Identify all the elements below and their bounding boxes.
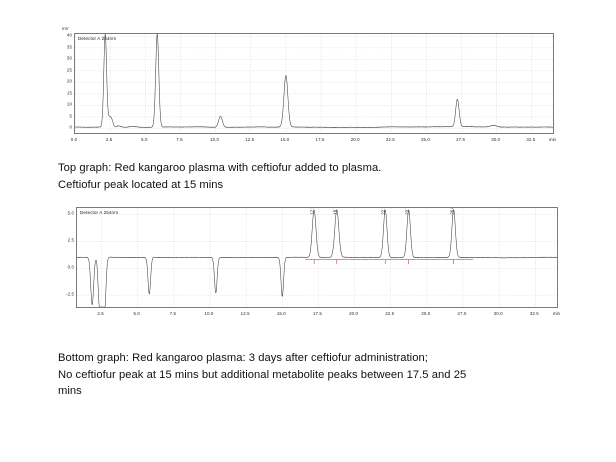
x-tick-label: 17.5 (313, 311, 322, 316)
x-tick-label: 25.0 (421, 137, 430, 142)
x-tick-label: 20.0 (349, 311, 358, 316)
peak-annotation-label: 26.850/1518/0610 (450, 207, 455, 215)
x-tick-label: 30.0 (494, 311, 503, 316)
x-tick-label: 2.5 (106, 137, 112, 142)
y-tick-label: 15 (67, 90, 72, 95)
x-tick-label: 10.0 (210, 137, 219, 142)
peak-annotation-label: 18.772/2213/0032 (333, 207, 338, 215)
top-chart-y-unit: mV (62, 26, 69, 31)
bottom-chart-trace (77, 208, 557, 307)
x-tick-label: 12.5 (241, 311, 250, 316)
top-chart-plot-area: Detector A 254nm (74, 33, 554, 134)
y-tick-label: 25 (67, 67, 72, 72)
y-tick-label: 20 (67, 79, 72, 84)
y-tick-label: 30 (67, 56, 72, 61)
x-tick-label: 30.0 (491, 137, 500, 142)
x-tick-label: 7.5 (170, 311, 176, 316)
peak-annotation-label: 22.120/892/0800 (382, 207, 387, 215)
y-tick-label: 10 (67, 102, 72, 107)
top-chromatogram: mV 0510152025303540 Detector A 254nm min… (58, 28, 558, 150)
y-tick-label: 5.0 (68, 211, 74, 216)
y-tick-label: 5 (69, 113, 72, 118)
caption-top-graph: Top graph: Red kangaroo plasma with ceft… (58, 160, 578, 193)
top-chart-trace (75, 34, 553, 133)
peak-annotation-label: 17.200/1598/0106 (311, 207, 316, 215)
peak-annotation-label: 23.740/1017/0052 (405, 207, 410, 215)
x-tick-label: 0.0 (71, 137, 77, 142)
x-tick-label: 15.0 (280, 137, 289, 142)
x-tick-label: 12.5 (245, 137, 254, 142)
slide-canvas: mV 0510152025303540 Detector A 254nm min… (0, 0, 616, 462)
x-tick-label: 27.5 (456, 137, 465, 142)
x-tick-label: 32.5 (530, 311, 539, 316)
y-tick-label: 0.0 (68, 265, 74, 270)
bottom-chromatogram: 5.02.50.0-2.5 Detector A 254nm 17.200/15… (50, 202, 562, 324)
x-tick-label: 20.0 (351, 137, 360, 142)
x-tick-label: 22.5 (385, 311, 394, 316)
bottom-chart-detector-label: Detector A 254nm (80, 210, 118, 215)
bottom-chart-plot-area: Detector A 254nm 17.200/1598/010618.772/… (76, 207, 558, 308)
caption-bottom-graph: Bottom graph: Red kangaroo plasma: 3 day… (58, 350, 588, 400)
bottom-chart-x-unit: min (553, 311, 560, 316)
y-tick-label: 35 (67, 44, 72, 49)
x-tick-label: 10.0 (205, 311, 214, 316)
top-chart-detector-label: Detector A 254nm (78, 36, 116, 41)
top-chart-y-axis: mV 0510152025303540 (58, 28, 74, 134)
top-chart-x-unit: min (549, 137, 556, 142)
x-tick-label: 25.0 (421, 311, 430, 316)
x-tick-label: 15.0 (277, 311, 286, 316)
x-tick-label: 2.5 (97, 311, 103, 316)
x-tick-label: 5.0 (141, 137, 147, 142)
bottom-chart-y-axis: 5.02.50.0-2.5 (50, 202, 76, 308)
x-tick-label: 22.5 (386, 137, 395, 142)
x-tick-label: 7.5 (176, 137, 182, 142)
bottom-chart-x-axis: min 2.55.07.510.012.515.017.520.022.525.… (50, 308, 562, 324)
y-tick-label: -2.5 (66, 292, 74, 297)
x-tick-label: 5.0 (134, 311, 140, 316)
y-tick-label: 0 (69, 125, 72, 130)
y-tick-label: 40 (67, 33, 72, 38)
x-tick-label: 27.5 (458, 311, 467, 316)
top-chart-x-axis: min 0.02.55.07.510.012.515.017.520.022.5… (58, 134, 558, 150)
x-tick-label: 17.5 (316, 137, 325, 142)
y-tick-label: 2.5 (68, 238, 74, 243)
x-tick-label: 32.5 (526, 137, 535, 142)
